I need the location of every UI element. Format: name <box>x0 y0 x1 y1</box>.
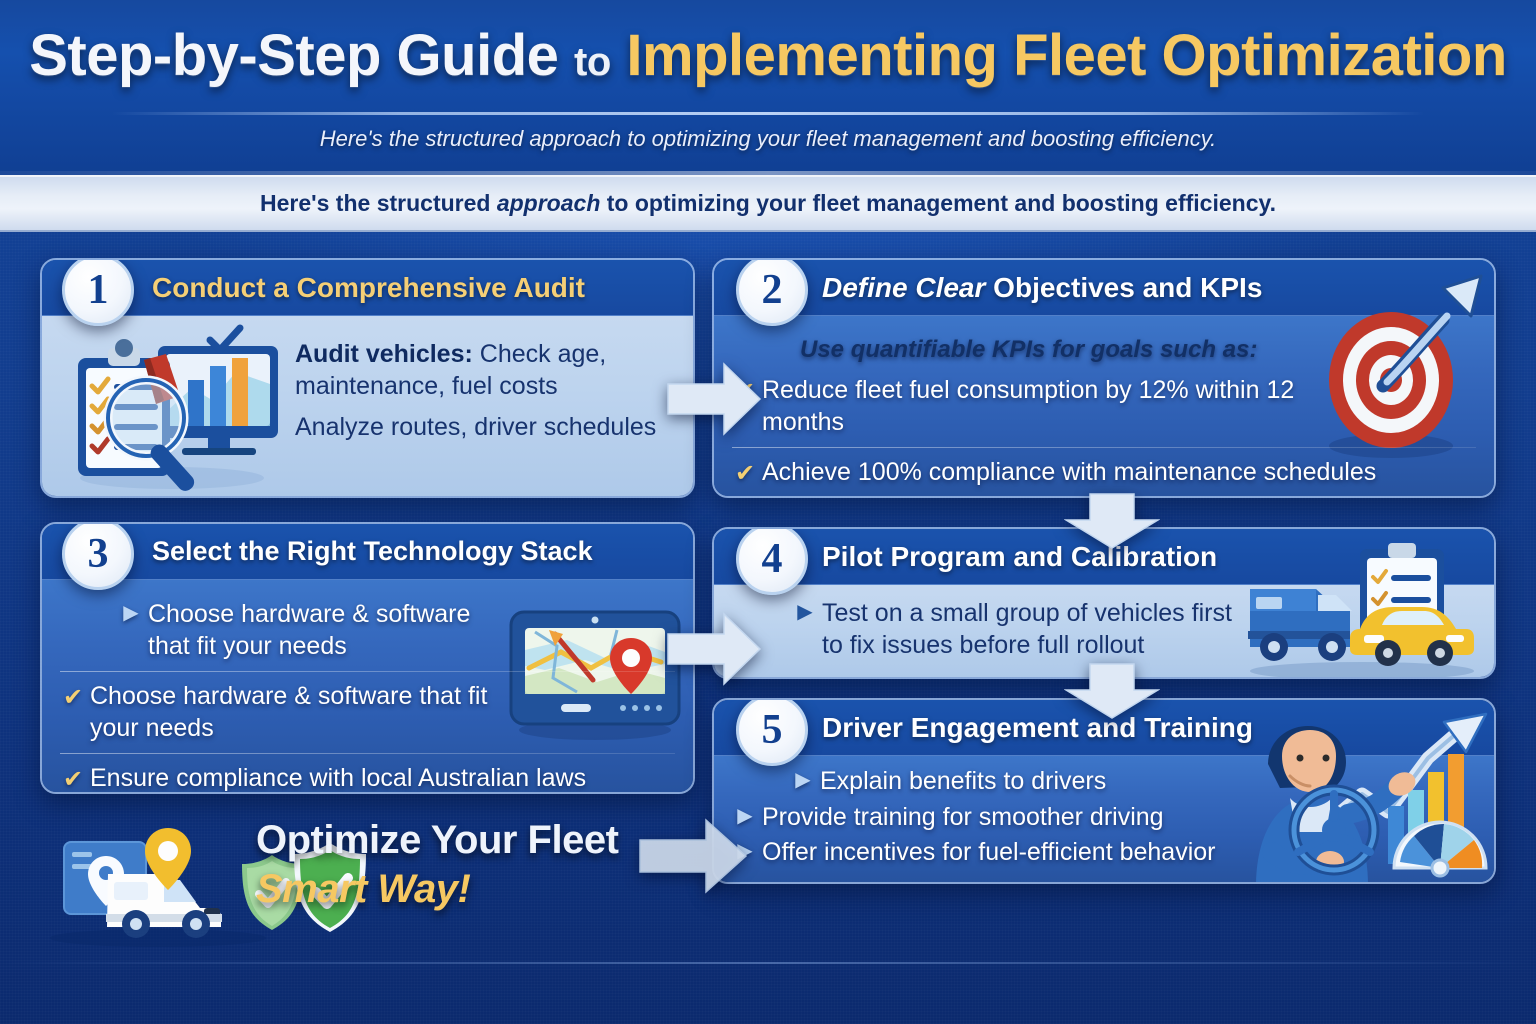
step-2-header: Define Clear Objectives and KPIs <box>714 260 1494 316</box>
page-title: Step-by-Step Guide to Implementing Fleet… <box>0 22 1536 89</box>
step-2-title-italic: Define Clear <box>822 272 985 303</box>
header: Step-by-Step Guide to Implementing Fleet… <box>0 0 1536 175</box>
band-text-part-1: Here's the structured <box>260 190 497 216</box>
check-icon: ✔ <box>60 683 86 713</box>
step-2-line-2: Achieve 100% compliance with maintenance… <box>762 457 1376 489</box>
step-2-line-1: Reduce fleet fuel consumption by 12% wit… <box>762 375 1319 438</box>
check-icon: ✔ <box>60 765 86 794</box>
step-3-body: ▶ Choose hardware & software that fit yo… <box>42 580 693 792</box>
step-3-lines: ▶ Choose hardware & software that fit yo… <box>42 580 693 794</box>
step-1-line-1-bold: Audit vehicles: <box>295 340 473 368</box>
step-2-title-rest: Objectives and KPIs <box>985 272 1262 303</box>
step-1-line-2: Analyze routes, driver schedules <box>295 412 656 444</box>
step-5-body: ▶ Explain benefits to drivers ▶ Provide … <box>714 756 1494 882</box>
bottom-divider <box>0 962 1536 964</box>
step-3-line-2: Choose hardware & software that fit your… <box>90 681 503 744</box>
header-subtitle: Here's the structured approach to optimi… <box>0 126 1536 152</box>
step-1-body: Audit vehicles: Check age, maintenance, … <box>42 316 693 496</box>
step-2-lead-row: Use quantifiable KPIs for goals such as: <box>714 330 1494 370</box>
clipboard-magnifier-chart-icon <box>60 322 280 492</box>
step-4-lines: ▶ Test on a small group of vehicles firs… <box>714 585 1494 666</box>
step-1-header: Conduct a Comprehensive Audit <box>42 260 693 316</box>
title-part-1: Step-by-Step Guide <box>29 23 558 88</box>
list-item: ✔ Reduce fleet fuel consumption by 12% w… <box>714 370 1494 443</box>
step-4-line-1: Test on a small group of vehicles first … <box>822 598 1244 661</box>
step-1-line-1: Audit vehicles: Check age, maintenance, … <box>295 339 665 402</box>
list-item: Analyze routes, driver schedules <box>277 407 683 449</box>
divider <box>60 671 675 672</box>
arrow-step1-to-step2-icon <box>666 362 762 436</box>
subtitle-band: Here's the structured approach to optimi… <box>0 175 1536 232</box>
cta-text: Optimize Your Fleet Smart Way! <box>256 818 618 912</box>
cta-line-2: Smart Way! <box>256 867 618 912</box>
list-item: ▶ Explain benefits to drivers <box>714 764 1494 800</box>
step-card-3[interactable]: Select the Right Technology Stack <box>40 522 695 794</box>
step-2-lead: Use quantifiable KPIs for goals such as: <box>800 335 1257 365</box>
list-item: ✔ Ensure compliance with local Australia… <box>42 758 693 794</box>
step-3-title: Select the Right Technology Stack <box>152 536 593 567</box>
list-item: ✔ Achieve 100% compliance with maintenan… <box>714 452 1494 494</box>
triangle-icon: ▶ <box>792 600 818 625</box>
cta-line-1: Optimize Your Fleet <box>256 818 618 863</box>
title-part-2: Implementing Fleet Optimization <box>626 23 1506 88</box>
divider <box>732 447 1476 448</box>
step-2-body: Use quantifiable KPIs for goals such as:… <box>714 316 1494 496</box>
band-text-part-3: to optimizing your fleet management and … <box>600 190 1276 216</box>
step-1-title: Conduct a Comprehensive Audit <box>152 272 585 304</box>
step-card-1[interactable]: Conduct a Comprehensive Audit <box>40 258 695 498</box>
step-card-2[interactable]: Define Clear Objectives and KPIs Use qua… <box>712 258 1496 498</box>
title-divider <box>112 112 1424 115</box>
title-connector: to <box>574 40 611 84</box>
list-item: Audit vehicles: Check age, maintenance, … <box>277 334 683 407</box>
divider <box>60 753 675 754</box>
step-1-lines: Audit vehicles: Check age, maintenance, … <box>277 320 683 449</box>
list-item: ✔ Choose hardware & software that fit yo… <box>42 676 693 749</box>
step-5-line-1: Explain benefits to drivers <box>820 766 1106 798</box>
list-item: ▶ Choose hardware & software that fit yo… <box>42 594 693 667</box>
list-item: ▶ Test on a small group of vehicles firs… <box>714 593 1494 666</box>
check-icon: ✔ <box>732 459 758 489</box>
band-text-part-2: approach <box>497 190 601 216</box>
step-3-line-1: Choose hardware & software that fit your… <box>148 599 503 662</box>
step-3-line-3: Ensure compliance with local Australian … <box>90 763 586 794</box>
step-card-5[interactable]: Driver Engagement and Training <box>712 698 1496 884</box>
triangle-icon: ▶ <box>118 601 144 626</box>
arrow-step2-to-step4-icon <box>1064 492 1160 550</box>
step-2-lines: Use quantifiable KPIs for goals such as:… <box>714 316 1494 494</box>
step-5-lines: ▶ Explain benefits to drivers ▶ Provide … <box>714 756 1494 871</box>
cta-block: Optimize Your Fleet Smart Way! <box>40 808 680 948</box>
step-5-line-2: Provide training for smoother driving <box>762 802 1164 834</box>
list-item: ▶ Offer incentives for fuel-efficient be… <box>714 835 1494 871</box>
step-5-title: Driver Engagement and Training <box>822 712 1253 744</box>
step-2-title: Define Clear Objectives and KPIs <box>822 272 1262 304</box>
triangle-icon: ▶ <box>790 768 816 793</box>
arrow-step3-to-step4-icon <box>666 612 762 686</box>
step-5-line-3: Offer incentives for fuel-efficient beha… <box>762 837 1215 869</box>
subtitle-band-text: Here's the structured approach to optimi… <box>260 190 1276 217</box>
list-item: ▶ Provide training for smoother driving <box>714 800 1494 836</box>
infographic-poster: Step-by-Step Guide to Implementing Fleet… <box>0 0 1536 1024</box>
step-3-header: Select the Right Technology Stack <box>42 524 693 580</box>
arrow-step4-to-step5-icon <box>1064 662 1160 720</box>
